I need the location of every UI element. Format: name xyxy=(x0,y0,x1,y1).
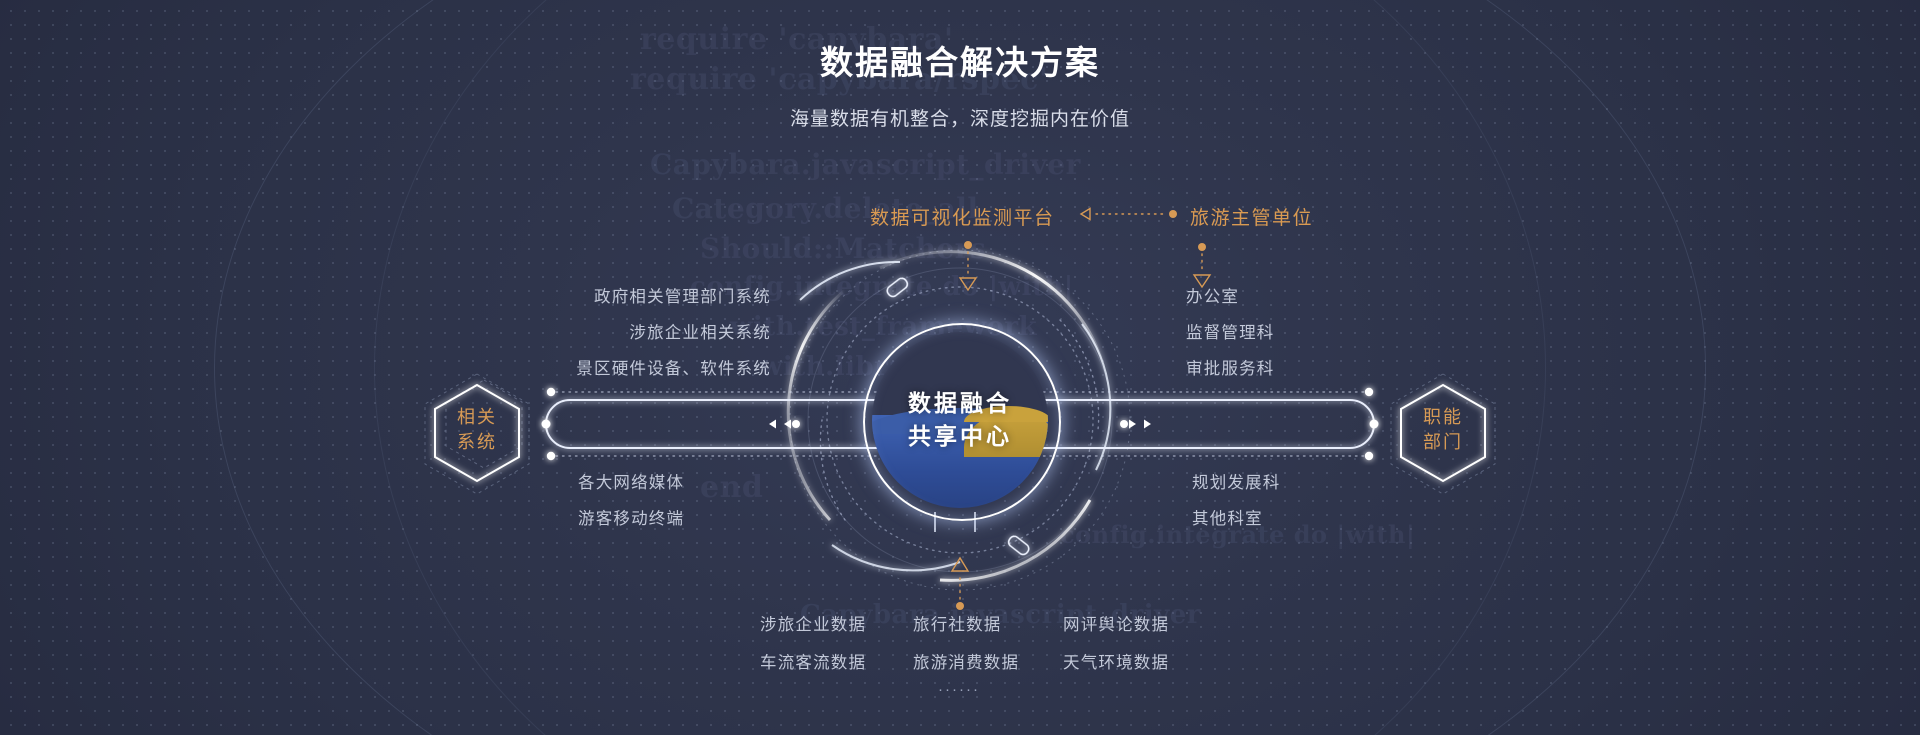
bottom-data-ellipsis: ······ xyxy=(938,681,980,698)
hexagon-right-label: 职能 部门 xyxy=(1383,405,1503,455)
hexagon-left-line1: 相关 xyxy=(417,405,537,430)
sphere-label-line1: 数据融合 xyxy=(872,387,1048,420)
right-department-0: 办公室 xyxy=(1186,283,1239,307)
bottom-data-1-1: 旅游消费数据 xyxy=(913,649,1019,673)
infographic-canvas: require 'capybara' require 'capybara/rsp… xyxy=(0,0,1920,735)
node-tourism-authority[interactable]: 旅游主管单位 xyxy=(1190,203,1313,230)
hexagon-right-line1: 职能 xyxy=(1383,405,1503,430)
bottom-orange-connector xyxy=(952,558,968,610)
right-department-2: 审批服务科 xyxy=(1186,355,1275,379)
right-department-4: 其他科室 xyxy=(1192,505,1263,529)
page-subtitle: 海量数据有机整合，深度挖掘内在价值 xyxy=(0,104,1920,131)
hexagon-left-label: 相关 系统 xyxy=(417,405,537,455)
left-source-1: 涉旅企业相关系统 xyxy=(629,319,771,343)
bottom-data-1-0: 车流客流数据 xyxy=(760,649,866,673)
node-visualization-platform[interactable]: 数据可视化监测平台 xyxy=(870,203,1055,230)
sphere-label: 数据融合 共享中心 xyxy=(872,387,1048,453)
sphere-label-line2: 共享中心 xyxy=(872,420,1048,453)
left-source-3: 各大网络媒体 xyxy=(578,469,684,493)
hexagon-left-line2: 系统 xyxy=(417,430,537,455)
bottom-data-1-2: 天气环境数据 xyxy=(1063,649,1169,673)
left-source-2: 景区硬件设备、软件系统 xyxy=(576,355,771,379)
bottom-data-0-2: 网评舆论数据 xyxy=(1063,611,1169,635)
left-source-0: 政府相关管理部门系统 xyxy=(594,283,771,307)
right-department-1: 监督管理科 xyxy=(1186,319,1275,343)
left-source-4: 游客移动终端 xyxy=(578,505,684,529)
bottom-data-0-0: 涉旅企业数据 xyxy=(760,611,866,635)
central-sphere: 数据融合 共享中心 xyxy=(872,332,1048,508)
page-title: 数据融合解决方案 xyxy=(0,36,1920,84)
right-department-3: 规划发展科 xyxy=(1192,469,1281,493)
bottom-data-0-1: 旅行社数据 xyxy=(913,611,1002,635)
hexagon-right-line2: 部门 xyxy=(1383,430,1503,455)
